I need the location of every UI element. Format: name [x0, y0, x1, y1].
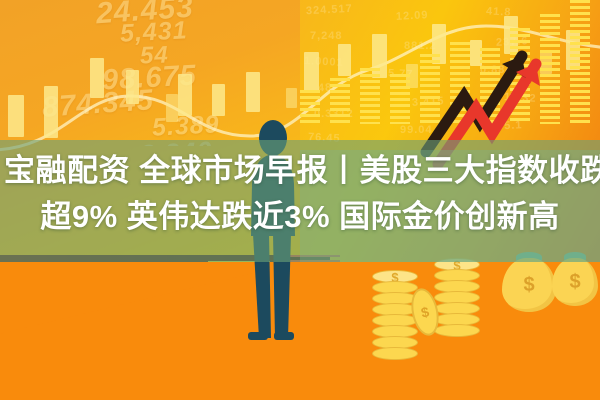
- coin-stack: $: [372, 270, 418, 360]
- page-title: 宝融配资 全球市场早报丨美股三大指数收跌 博通涨 超9% 英伟达跌近3% 国际金…: [0, 148, 600, 256]
- money-bag: $: [552, 258, 598, 306]
- bar-column: [330, 78, 350, 124]
- headline-line-1: 宝融配资 全球市场早报丨美股三大指数收跌 博通涨: [0, 148, 600, 194]
- bar-column: [300, 90, 320, 124]
- headline-line-2: 超9% 英伟达跌近3% 国际金价创新高: [0, 194, 600, 240]
- coin-stack: $: [434, 258, 480, 342]
- news-banner-image: 24.453 5,431 54 98.675 874.345 5.389 2.3…: [0, 0, 600, 400]
- money-bag: $: [502, 258, 556, 312]
